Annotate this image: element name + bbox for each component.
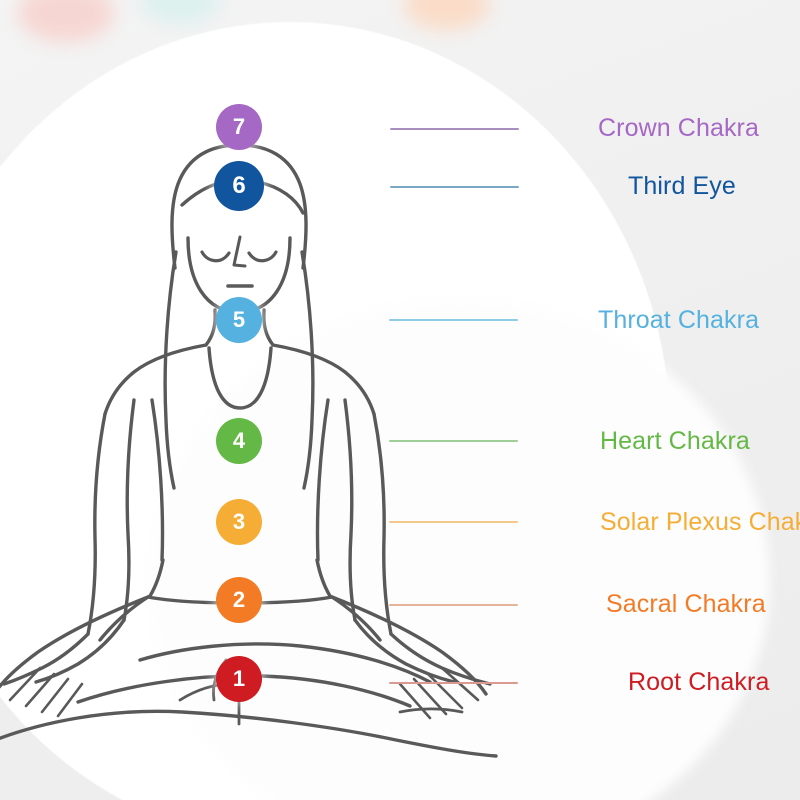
torso-side-left: [150, 560, 163, 596]
chakra-number: 5: [233, 307, 245, 333]
connector-line-throat-chakra: [389, 319, 518, 321]
tank-strap-right: [317, 400, 328, 560]
right-eye-closed: [249, 252, 276, 261]
chakra-diagram-canvas: 7654321 Crown ChakraThird EyeThroat Chak…: [0, 0, 800, 800]
chakra-label-root-chakra: Root Chakra: [628, 668, 769, 697]
left-eye-closed: [202, 252, 229, 261]
nose: [234, 237, 245, 266]
chakra-number: 4: [233, 428, 245, 454]
arm-left-outer: [88, 414, 105, 634]
neck-right: [264, 310, 273, 345]
chakra-marker-heart-chakra[interactable]: 4: [216, 418, 262, 464]
shoulder-left: [105, 345, 206, 414]
arm-right-outer: [374, 414, 391, 634]
chakra-number: 1: [233, 666, 245, 692]
chakra-number: 6: [232, 172, 245, 200]
connector-line-crown-chakra: [390, 128, 519, 130]
connector-line-third-eye: [390, 186, 519, 188]
chakra-label-sacral-chakra: Sacral Chakra: [606, 590, 766, 619]
chakra-marker-third-eye[interactable]: 6: [214, 161, 264, 211]
chakra-marker-crown-chakra[interactable]: 7: [216, 104, 262, 150]
chakra-number: 2: [233, 587, 245, 613]
chakra-label-third-eye: Third Eye: [628, 172, 736, 201]
finger-right-4: [400, 684, 430, 718]
torso-side-right: [317, 560, 330, 596]
tank-top-neckline: [209, 348, 271, 408]
arm-right-inner: [345, 400, 355, 620]
tank-strap-left: [152, 400, 163, 560]
chakra-label-crown-chakra: Crown Chakra: [598, 114, 759, 143]
chakra-label-throat-chakra: Throat Chakra: [598, 306, 759, 335]
shoulder-right: [273, 345, 374, 414]
hair-right: [302, 252, 313, 488]
neck-left: [206, 310, 215, 345]
connector-line-sacral-chakra: [389, 604, 518, 606]
chakra-number: 7: [233, 114, 245, 140]
chakra-marker-throat-chakra[interactable]: 5: [216, 297, 262, 343]
arm-left-inner: [124, 400, 134, 620]
chakra-label-heart-chakra: Heart Chakra: [600, 427, 750, 456]
chakra-label-solar-plexus-chakra: Solar Plexus Chakra: [600, 508, 800, 537]
chakra-number: 3: [233, 509, 245, 535]
foot-right-tuck: [400, 709, 462, 712]
hand-left: [4, 634, 88, 684]
hair-left: [165, 252, 176, 488]
connector-line-solar-plexus-chakra: [389, 521, 518, 523]
connector-line-heart-chakra: [389, 440, 518, 442]
chakra-marker-sacral-chakra[interactable]: 2: [216, 577, 262, 623]
chakra-marker-root-chakra[interactable]: 1: [216, 656, 262, 702]
legs-base-outline: [0, 711, 496, 756]
connector-line-root-chakra: [389, 682, 518, 684]
chakra-marker-solar-plexus-chakra[interactable]: 3: [216, 499, 262, 545]
